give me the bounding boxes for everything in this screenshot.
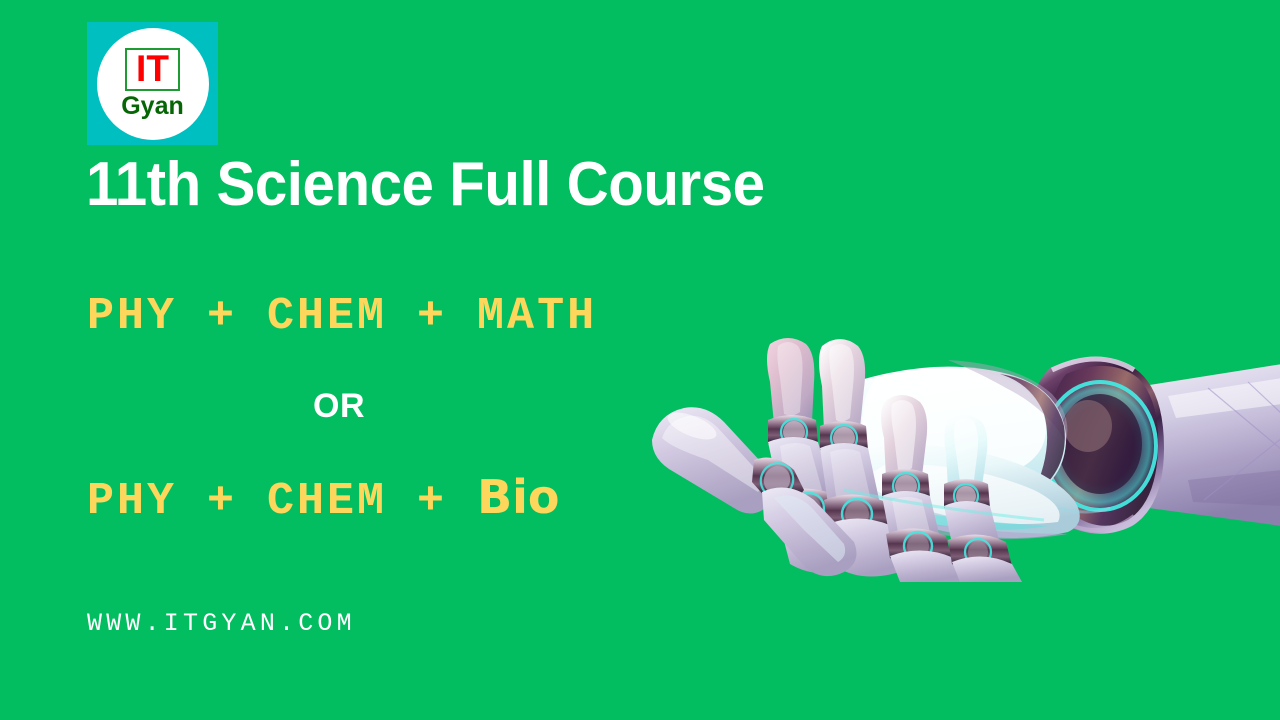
page-title: 11th Science Full Course	[86, 152, 765, 219]
logo[interactable]: IT Gyan	[87, 22, 218, 145]
logo-gyan-text: Gyan	[121, 93, 184, 119]
logo-circle: IT Gyan	[97, 28, 209, 140]
course-option-separator: OR	[313, 389, 365, 423]
poster-canvas: IT Gyan 11th Science Full Course PHY + C…	[0, 0, 1280, 720]
course-option-one: PHY + CHEM + MATH	[87, 294, 597, 339]
logo-it-box: IT	[125, 48, 180, 91]
logo-it-text: IT	[136, 50, 169, 88]
robotic-hand-icon	[648, 330, 1280, 582]
course-option-two: PHY + CHEM + Bio	[87, 474, 560, 524]
course-option-two-prefix: PHY + CHEM +	[87, 476, 477, 527]
course-option-two-subject: Bio	[477, 470, 559, 524]
site-url: WWW.ITGYAN.COM	[87, 611, 356, 636]
